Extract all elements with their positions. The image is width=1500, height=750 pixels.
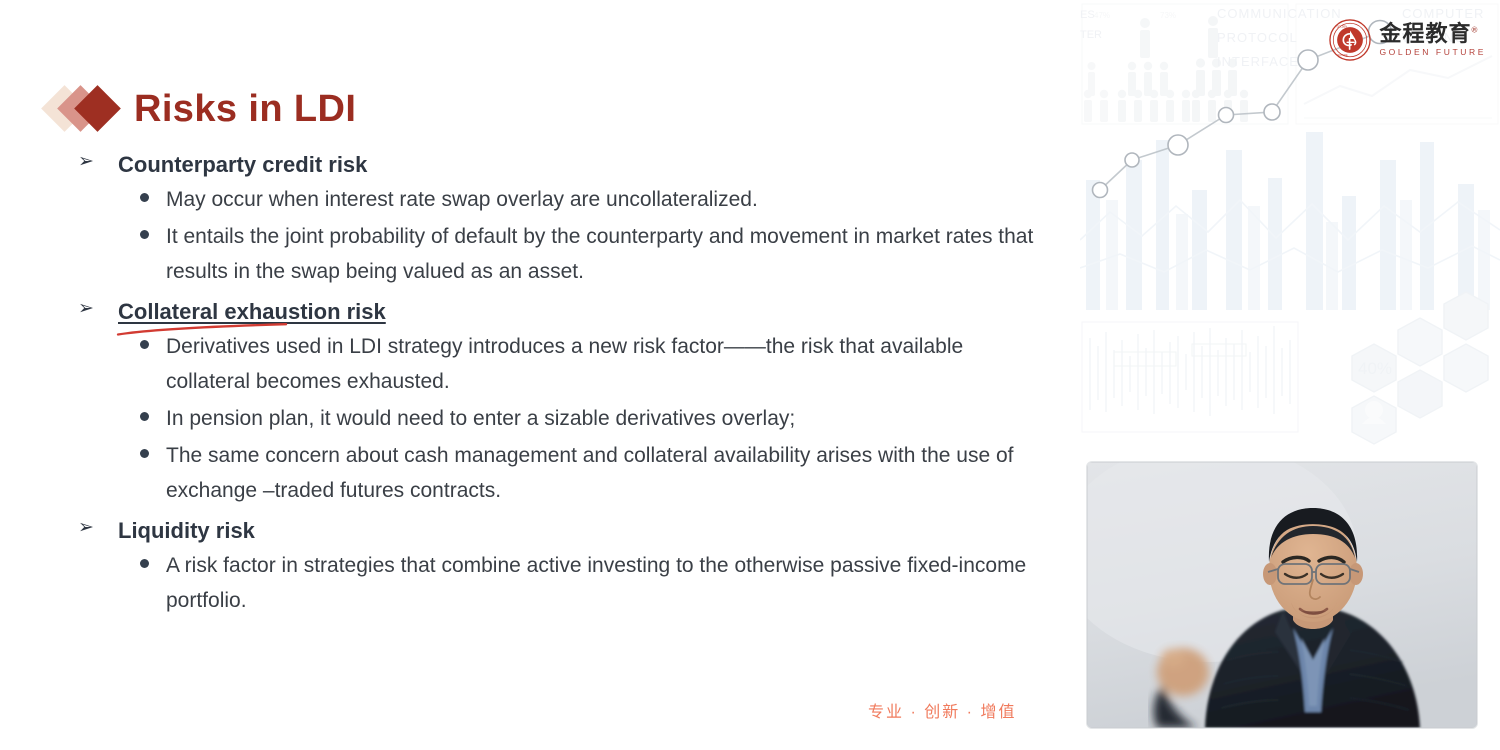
list-item: It entails the joint probability of defa… — [78, 219, 1038, 289]
list-item: In pension plan, it would need to enter … — [78, 401, 1038, 436]
presenter-video-tile[interactable] — [1086, 461, 1478, 729]
arrow-bullet-icon: ➢ — [78, 150, 118, 171]
slide-body-outline: ➢ Counterparty credit risk May occur whe… — [78, 150, 1038, 618]
slide-canvas: Risks in LDI ➢ Counterparty credit risk … — [0, 0, 1080, 750]
dot-bullet-icon — [140, 329, 166, 349]
dot-bullet-icon — [140, 438, 166, 458]
list-item: The same concern about cash management a… — [78, 438, 1038, 508]
svg-text:ES: ES — [1080, 9, 1095, 21]
dot-bullet-icon — [140, 548, 166, 568]
outline-section-heading: ➢ Counterparty credit risk — [78, 150, 1038, 180]
registered-mark: ® — [1471, 26, 1478, 35]
background-infographic-watermark: 47% 73% ES TER COMMUNICATION PROTOCOL IN… — [1080, 0, 1500, 460]
bullet-list: A risk factor in strategies that combine… — [78, 548, 1038, 618]
bullet-text: It entails the joint probability of defa… — [166, 219, 1038, 289]
dot-bullet-icon — [140, 219, 166, 239]
brand-name-block: 金程教育® GOLDEN FUTURE — [1379, 23, 1486, 57]
slide-title-block: Risks in LDI — [48, 80, 356, 138]
bullet-text: May occur when interest rate swap overla… — [166, 182, 758, 217]
list-item: Derivatives used in LDI strategy introdu… — [78, 329, 1038, 399]
golden-future-seal-icon: GOLDEN FUTURE — [1329, 19, 1371, 61]
section-heading-collateral-exhaustion-risk: Collateral exhaustion risk — [118, 297, 386, 327]
presentation-screen: Risks in LDI ➢ Counterparty credit risk … — [0, 0, 1500, 750]
brand-name-cn-text: 金程教育 — [1379, 21, 1471, 46]
arrow-bullet-icon: ➢ — [78, 297, 118, 318]
bullet-text: A risk factor in strategies that combine… — [166, 548, 1038, 618]
svg-text:47%: 47% — [1094, 11, 1110, 20]
svg-text:PROTOCOL: PROTOCOL — [1217, 30, 1298, 45]
svg-text:73%: 73% — [1160, 11, 1176, 20]
section-heading-text: Collateral exhaustion risk — [118, 299, 386, 324]
presenter-video-frame — [1087, 462, 1477, 728]
svg-text:TER: TER — [1080, 29, 1102, 41]
bullet-text: Derivatives used in LDI strategy introdu… — [166, 329, 1038, 399]
outline-section-heading: ➢ Liquidity risk — [78, 516, 1038, 546]
section-heading-liquidity-risk: Liquidity risk — [118, 516, 255, 546]
hexagon-label: 40% — [1358, 359, 1392, 378]
footer-slogan: 专业 · 创新 · 增值 — [868, 698, 1016, 722]
slide-title: Risks in LDI — [134, 88, 356, 131]
brand-name-cn: 金程教育® — [1379, 23, 1486, 45]
section-heading-counterparty-credit-risk: Counterparty credit risk — [118, 150, 367, 180]
bullet-list: Derivatives used in LDI strategy introdu… — [78, 329, 1038, 508]
spacer — [78, 508, 1038, 516]
svg-text:COMMUNICATION: COMMUNICATION — [1217, 6, 1342, 21]
svg-text:INTERFACE: INTERFACE — [1217, 54, 1299, 69]
list-item: May occur when interest rate swap overla… — [78, 182, 1038, 217]
bullet-text: In pension plan, it would need to enter … — [166, 401, 795, 436]
svg-text:FUTURE: FUTURE — [1338, 54, 1348, 57]
outline-section-heading: ➢ Collateral exhaustion risk — [78, 297, 1038, 327]
brand-logo: GOLDEN FUTURE 金程教育® GOLDEN FUTURE — [1329, 18, 1486, 62]
svg-text:GOLDEN: GOLDEN — [1337, 26, 1348, 29]
bullet-text: The same concern about cash management a… — [166, 438, 1038, 508]
dot-bullet-icon — [140, 401, 166, 421]
brand-name-en: GOLDEN FUTURE — [1379, 48, 1486, 57]
spacer — [78, 289, 1038, 297]
list-item: A risk factor in strategies that combine… — [78, 548, 1038, 618]
arrow-bullet-icon: ➢ — [78, 516, 118, 537]
title-diamond-decoration — [48, 83, 122, 135]
bullet-list: May occur when interest rate swap overla… — [78, 182, 1038, 289]
dot-bullet-icon — [140, 182, 166, 202]
